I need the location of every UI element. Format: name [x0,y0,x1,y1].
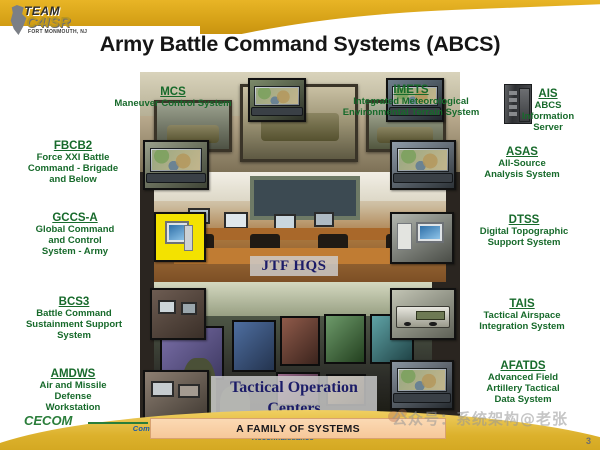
screen-icon [420,226,440,239]
callout-asas-name-line2: Analysis System [452,170,592,181]
hmmwv-vehicle-icon [396,306,451,328]
photo-situation-display [280,316,320,366]
callout-amdws: AMDWS Air and Missile Defense Workstatio… [6,368,140,413]
photo-monitor [178,384,199,398]
callout-dtss: DTSS Digital Topographic Support System [452,214,596,249]
photo-situation-display [232,320,276,372]
computer-tower-icon [184,225,194,251]
callout-dtss-name-line2: Support System [452,238,596,249]
photo-wall-display [250,176,360,220]
photo-monitor [151,381,173,397]
laptop-icon [397,148,449,172]
logo-line-location: FORT MONMOUTH, NJ [28,29,87,35]
photo-monitor [314,212,334,227]
callout-fbcb2-name-line3: and Below [6,175,140,186]
photo-monitor [224,212,248,229]
laptop-icon [254,86,299,107]
callout-bcs3: BCS3 Battle Command Sustainment Support … [6,296,142,341]
thumbnail-asas-laptop [390,140,456,190]
overlay-toc-line1: Tactical Operation [211,377,377,398]
callout-tais: TAIS Tactical Airspace Integration Syste… [452,298,592,333]
thumbnail-tais-vehicle [390,288,456,340]
map-display-icon [399,150,447,170]
laptop-icon [397,368,447,392]
overlay-label-jtf-hqs: JTF HQS [250,256,338,276]
callout-bcs3-name-line2: Sustainment Support [6,320,142,331]
callout-gccsa: GCCS-A Global Command and Control System… [6,212,144,257]
callout-ais: AIS ABCS Information Server [500,88,596,133]
keyboard-icon [393,393,451,403]
keyboard-icon [393,173,453,183]
callout-afatds-name-line2: Artillery Tactical [452,384,594,395]
team-c4isr-logo: TEAM C4ISR FORT MONMOUTH, NJ [4,2,96,42]
callout-gccsa-name-line3: System - Army [6,247,144,258]
photo-monitor [158,300,176,314]
callout-mcs-name: Maneuver Control System [98,99,248,110]
thumbnail-gccsa-workstation [154,212,206,262]
rugged-computer-icon [150,148,202,172]
callout-fbcb2-name-line2: Command - Brigade [6,164,140,175]
thumbnail-mcs-laptop [248,78,306,122]
callout-ais-name-line2: Information [500,112,596,123]
callout-afatds: AFATDS Advanced Field Artillery Tactical… [452,360,594,405]
callout-imets-name-line2: Environmental Terrain System [318,108,504,119]
screen-icon [169,225,185,240]
map-display-icon [399,370,445,390]
callout-tais-name-line2: Integration System [452,322,592,333]
map-display-icon [256,88,297,105]
callout-imets: IMETS Integrated Meteorological Environm… [318,84,504,119]
thumbnail-fbcb2-device [143,140,209,190]
shelter-box-icon [416,311,445,320]
wheel-icon [429,322,436,326]
thumbnail-afatds-laptop [390,360,454,410]
callout-mcs: MCS Maneuver Control System [98,86,248,110]
callout-amdws-name-line2: Defense [6,392,140,403]
page-number: 3 [586,436,591,446]
photo-situation-display [324,314,366,364]
thumbnail-dtss-workstation [390,212,454,264]
callout-afatds-name-line3: Data System [452,395,594,406]
callout-fbcb2: FBCB2 Force XXI Battle Command - Brigade… [6,140,140,185]
cecom-underline-rule [88,422,148,424]
watermark-text: 公众号：系统架构@老张 [392,408,568,429]
callout-bcs3-name-line3: System [6,331,142,342]
callout-gccsa-name-line2: and Control [6,236,144,247]
photo-monitor [181,302,197,314]
keyboard-icon [146,173,206,183]
desktop-monitor-icon [416,222,444,243]
thumbnail-bcs3-shelter [150,288,206,340]
callout-asas: ASAS All-Source Analysis System [452,146,592,181]
keyboard-icon [251,107,303,116]
wheel-icon [404,322,411,326]
callout-ais-name-line3: Server [500,123,596,134]
map-display-icon [152,150,200,170]
plotter-icon [397,223,413,251]
cecom-wordmark: CECOM [24,413,72,428]
